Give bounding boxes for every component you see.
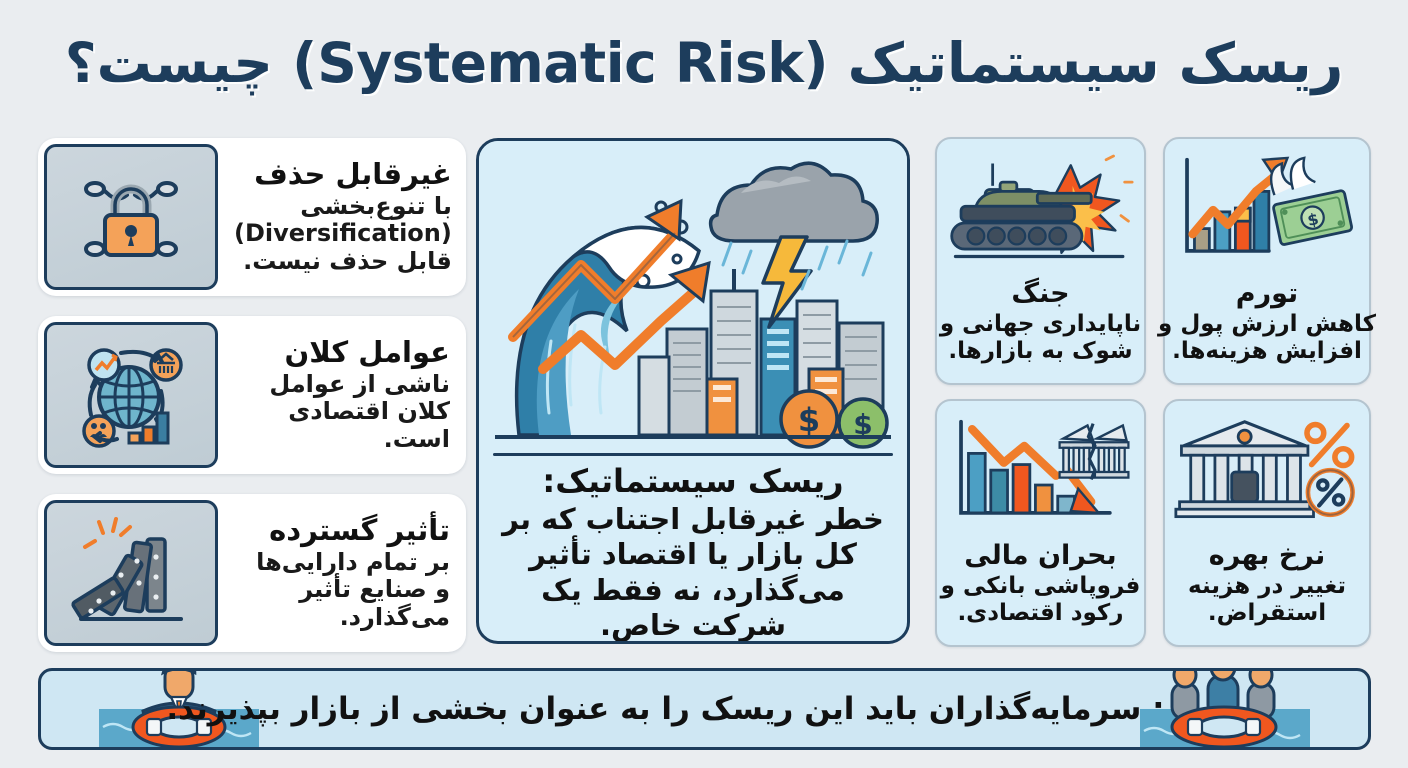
- right-card-title: تورم: [1147, 279, 1387, 309]
- left-card-body: ناشی از عوامل کلان اقتصادی است.: [234, 371, 450, 452]
- left-card-broad-impact: تأثیر گسترده بر تمام دارایی‌ها و صنایع ت…: [38, 494, 466, 652]
- right-card-title: جنگ: [919, 279, 1162, 309]
- right-card-title: بحران مالی: [919, 541, 1162, 571]
- left-feature-column: غیرقابل حذف با تنوع‌بخشی (Diversificatio…: [38, 138, 466, 652]
- center-title: ریسک سیستماتیک:: [495, 463, 891, 501]
- infographic-root: ریسک سیستماتیک (Systematic Risk) چیست؟: [0, 0, 1408, 768]
- center-text: ریسک سیستماتیک: خطر غیرقابل اجتناب که بر…: [489, 463, 897, 643]
- left-card-title: تأثیر گسترده: [234, 515, 450, 547]
- rising-chart-flying-money-icon: $: [1165, 145, 1369, 275]
- center-divider: [493, 453, 893, 456]
- left-card-body: بر تمام دارایی‌ها و صنایع تأثیر می‌گذارد…: [234, 549, 450, 630]
- left-card-non-diversifiable: غیرقابل حذف با تنوع‌بخشی (Diversificatio…: [38, 138, 466, 296]
- left-card-title: عوامل کلان: [234, 337, 450, 369]
- left-card-macro-factors: عوامل کلان ناشی از عوامل کلان اقتصادی اس…: [38, 316, 466, 474]
- falling-dominoes-icon: [44, 500, 218, 646]
- center-body: خطر غیرقابل اجتناب که بر کل بازار یا اقت…: [495, 502, 891, 644]
- right-card-body: کاهش ارزش پول و افزایش هزینه‌ها.: [1143, 311, 1391, 365]
- left-card-text: غیرقابل حذف با تنوع‌بخشی (Diversificatio…: [224, 138, 468, 296]
- globe-economy-icon: [44, 322, 218, 468]
- padlock-chains-icon: [44, 144, 218, 290]
- right-card-inflation: $ تورم کاهش ارزش پول و افزایش هزینه‌ها.: [1163, 137, 1371, 385]
- falling-chart-broken-bank-icon: [937, 407, 1144, 537]
- right-card-body: تغییر در هزینه استقراض.: [1143, 573, 1391, 627]
- center-panel: $ $ ریسک سیستماتیک: خطر غیرقابل اجتناب ک…: [476, 138, 910, 644]
- tank-explosion-icon: [937, 145, 1144, 275]
- right-card-war: جنگ ناپایداری جهانی و شوک به بازارها.: [935, 137, 1146, 385]
- left-card-text: عوامل کلان ناشی از عوامل کلان اقتصادی اس…: [224, 316, 466, 474]
- page-title: ریسک سیستماتیک (Systematic Risk) چیست؟: [0, 18, 1408, 108]
- left-card-text: تأثیر گسترده بر تمام دارایی‌ها و صنایع ت…: [224, 494, 466, 652]
- right-card-body: فروپاشی بانکی و رکود اقتصادی.: [915, 573, 1166, 627]
- bank-percent-icon: [1165, 407, 1369, 537]
- svg-text:$: $: [798, 401, 820, 439]
- tidal-wave-storm-city-icon: $ $: [479, 141, 907, 453]
- right-card-interest-rate: نرخ بهره تغییر در هزینه استقراض.: [1163, 399, 1371, 647]
- right-card-financial-crisis: بحران مالی فروپاشی بانکی و رکود اقتصادی.: [935, 399, 1146, 647]
- left-card-title: غیرقابل حذف: [234, 159, 452, 191]
- investors-group-lifebuoy-icon: [1140, 668, 1310, 750]
- footer-banner: نتیجه: سرمایه‌گذاران باید این ریسک را به…: [38, 668, 1371, 750]
- left-card-body: با تنوع‌بخشی (Diversification) قابل حذف …: [234, 193, 452, 274]
- right-card-title: نرخ بهره: [1147, 541, 1387, 571]
- right-card-body: ناپایداری جهانی و شوک به بازارها.: [915, 311, 1166, 365]
